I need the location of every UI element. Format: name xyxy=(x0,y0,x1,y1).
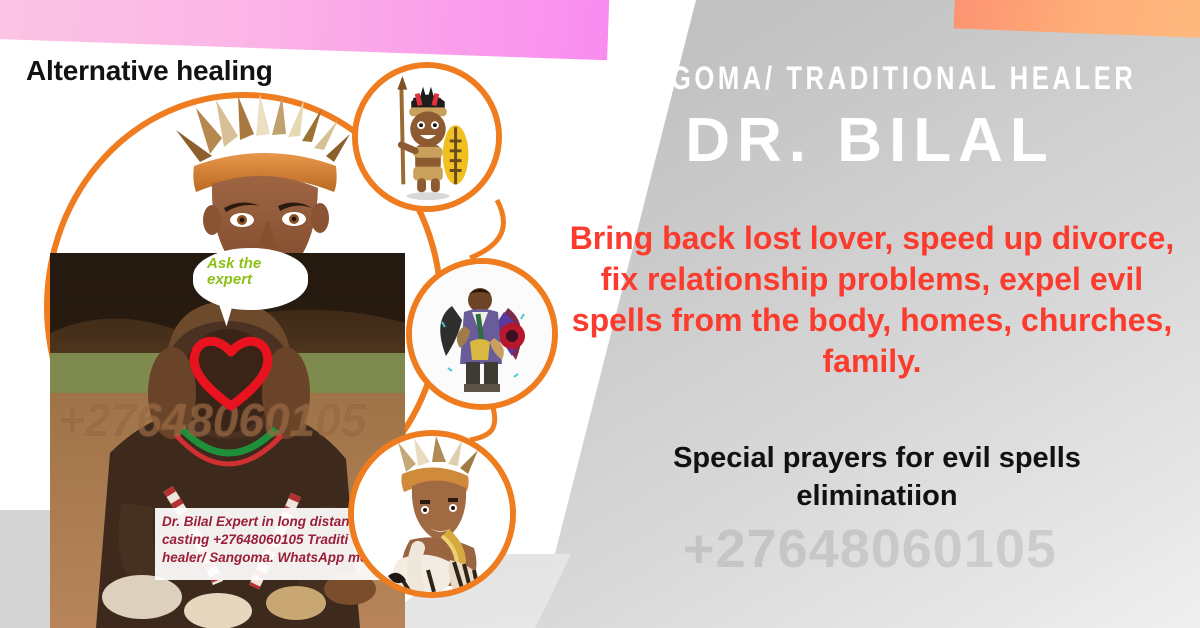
brand-title: DR. BILAL xyxy=(540,105,1200,176)
zulu-warrior-illustration xyxy=(358,68,496,206)
red-heart-outline-icon xyxy=(185,330,277,412)
special-prayers-text: Special prayers for evil spells eliminat… xyxy=(592,440,1162,515)
kneeling-sangoma-illustration xyxy=(354,436,510,592)
phone-watermark: +27648060105 xyxy=(540,518,1200,580)
speech-bubble-tail xyxy=(214,297,235,327)
circle-photo-kneeling-sangoma xyxy=(348,430,516,598)
right-text-panel: SANGOMA/ TRADITIONAL HEALER DR. BILAL Br… xyxy=(540,0,1200,628)
poster-canvas: Alternative healing xyxy=(0,0,1200,628)
kicker-subtitle: SANGOMA/ TRADITIONAL HEALER xyxy=(606,60,1134,97)
circle-photo-diviner xyxy=(406,258,558,410)
circle-photo-warrior xyxy=(352,62,502,212)
speech-bubble-text: Ask the expert xyxy=(207,256,299,288)
speech-bubble: Ask the expert xyxy=(193,248,308,310)
cloaked-diviner-illustration xyxy=(412,264,552,404)
left-image-collage: Alternative healing xyxy=(0,0,560,628)
services-description: Bring back lost lover, speed up divorce,… xyxy=(562,218,1182,382)
caption-line-3: healer/ Sangoma. WhatsApp me xyxy=(162,549,384,567)
